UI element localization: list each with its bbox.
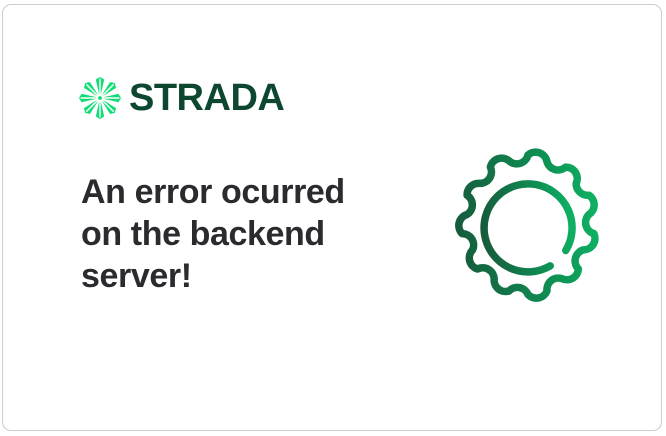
brand-lockup: STRADA xyxy=(79,77,284,119)
error-headline: An error ocurred on the backend server! xyxy=(81,171,371,297)
screen: STRADA An error ocurred on the backend s… xyxy=(0,0,666,436)
gear-cog-icon xyxy=(447,147,609,309)
brand-wordmark: STRADA xyxy=(129,79,284,117)
strada-asterisk-icon xyxy=(79,77,121,119)
error-card: STRADA An error ocurred on the backend s… xyxy=(2,4,662,431)
